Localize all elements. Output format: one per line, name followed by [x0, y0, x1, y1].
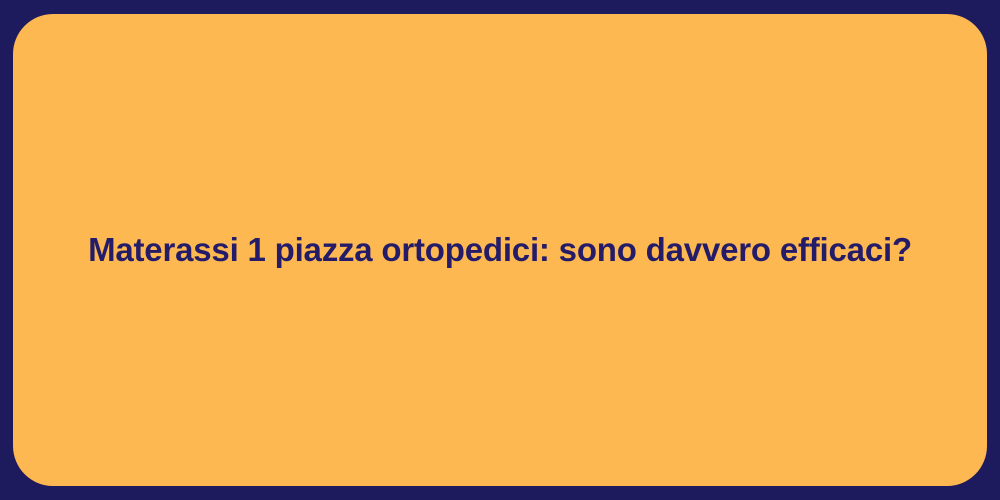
banner-frame: Materassi 1 piazza ortopedici: sono davv… — [0, 0, 1000, 500]
page-title: Materassi 1 piazza ortopedici: sono davv… — [64, 229, 936, 270]
banner-card: Materassi 1 piazza ortopedici: sono davv… — [13, 14, 987, 486]
